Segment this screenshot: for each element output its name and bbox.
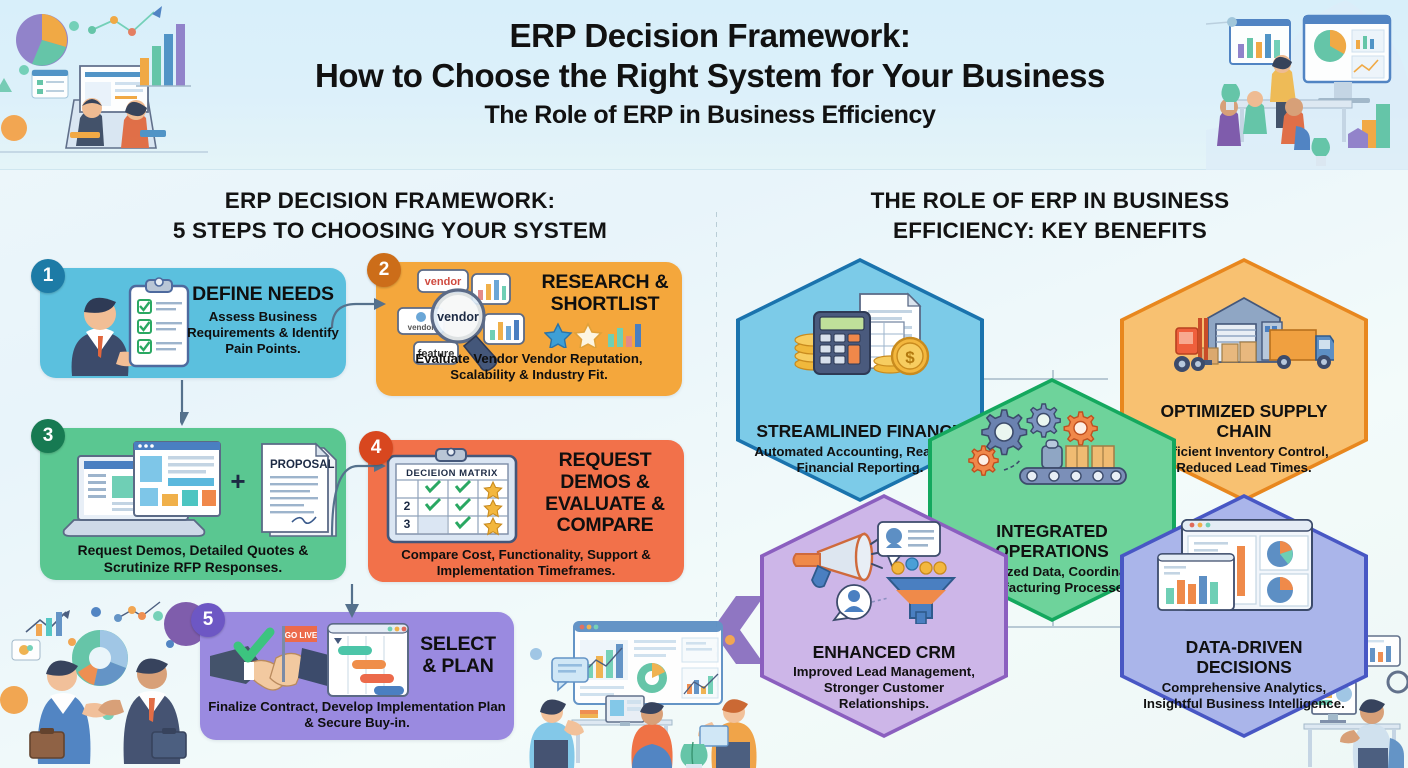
step-1-badge: 1 — [31, 259, 65, 293]
proposal-doc-label: PROPOSAL — [270, 459, 335, 471]
decision-matrix-clipboard-icon: DECIEION MATRIX 2 3 — [380, 446, 530, 546]
step-5-body: GO LIVE SELECT & PLAN Finalize Contract,… — [200, 612, 514, 740]
step-2-title-block: RESEARCH & SHORTLIST — [534, 272, 676, 316]
step-2-number: 2 — [379, 259, 390, 281]
step-2-badge: 2 — [367, 253, 401, 287]
step-1-text: DEFINE NEEDS Assess Business Requirement… — [186, 284, 340, 358]
hex-data-desc: Comprehensive Analytics, Insightful Busi… — [1138, 680, 1350, 712]
svg-text:vendor: vendor — [437, 310, 479, 324]
dashboard-charts-pie-icon — [1154, 516, 1334, 620]
hex-crm-title: ENHANCED CRM — [778, 643, 990, 663]
step-1-number: 1 — [43, 265, 54, 287]
step-4-title: REQUEST DEMOS & EVALUATE & COMPARE — [532, 450, 678, 537]
step-1-body: DEFINE NEEDS Assess Business Requirement… — [40, 268, 346, 378]
step-5-desc-block: Finalize Contract, Develop Implementatio… — [208, 696, 506, 731]
step-5-number: 5 — [203, 609, 214, 631]
step-4-number: 4 — [371, 437, 382, 459]
title-line-1: ERP Decision Framework: — [210, 16, 1210, 56]
matrix-row-2-label: 2 — [404, 499, 411, 513]
gears-conveyor-belt-icon — [968, 402, 1138, 498]
step-2-desc-block: Evaluate Vendor Vendor Reputation, Scala… — [392, 348, 666, 383]
connector-step4-to-step5 — [330, 582, 370, 622]
step-5-title-block: SELECT & PLAN — [412, 634, 504, 678]
step-5-title: SELECT & PLAN — [412, 634, 504, 678]
left-heading-line-2: 5 STEPS TO CHOOSING YOUR SYSTEM — [60, 216, 720, 246]
svg-text:vendor: vendor — [408, 323, 435, 332]
benefit-hex-enhanced-crm[interactable]: ENHANCED CRM Improved Lead Management, S… — [760, 494, 1008, 738]
hex-data-text: DATA-DRIVEN DECISIONS Comprehensive Anal… — [1138, 638, 1350, 738]
businessman-checklist-clipboard-icon — [50, 268, 200, 378]
step-2-desc: Evaluate Vendor Vendor Reputation, Scala… — [392, 351, 666, 383]
step-1-desc: Assess Business Requirements & Identify … — [186, 309, 340, 358]
step-5-badge: 5 — [191, 603, 225, 637]
header-title-block: ERP Decision Framework: How to Choose th… — [210, 16, 1210, 134]
step-1-title: DEFINE NEEDS — [186, 284, 340, 306]
step-card-select-plan[interactable]: GO LIVE SELECT & PLAN Finalize Contract,… — [200, 612, 514, 740]
step-card-define-needs[interactable]: DEFINE NEEDS Assess Business Requirement… — [40, 268, 346, 378]
warehouse-forklift-truck-icon — [1158, 284, 1334, 384]
rating-stars-and-bars-icon — [544, 322, 664, 348]
step-4-title-block: REQUEST DEMOS & EVALUATE & COMPARE — [532, 450, 678, 537]
calculator-coins-invoice-icon: $ — [788, 286, 938, 386]
footer-left-illustration — [0, 596, 200, 768]
step-5-desc: Finalize Contract, Develop Implementatio… — [208, 699, 506, 731]
step-4-desc: Compare Cost, Functionality, Support & I… — [376, 547, 676, 579]
megaphone-lead-funnel-icon — [792, 520, 972, 624]
step-4-desc-block: Compare Cost, Functionality, Support & I… — [376, 544, 676, 579]
header-subtitle: The Role of ERP in Business Efficiency — [210, 97, 1210, 135]
step-3-number: 3 — [43, 425, 54, 447]
decision-matrix-label: DECIEION MATRIX — [406, 468, 498, 479]
step-3-desc: Request Demos, Detailed Quotes & Scrutin… — [48, 543, 338, 577]
right-heading-line-2: EFFICIENCY: KEY BENEFITS — [790, 216, 1310, 246]
step-card-evaluate-compare[interactable]: DECIEION MATRIX 2 3 REQUEST DE — [368, 440, 684, 582]
header-right-illustration — [1206, 0, 1408, 170]
header-left-illustration — [0, 0, 208, 170]
connector-step1-to-step3 — [180, 378, 220, 434]
step-3-badge: 3 — [31, 419, 65, 453]
matrix-row-3-label: 3 — [404, 517, 411, 531]
left-section-heading: ERP DECISION FRAMEWORK: 5 STEPS TO CHOOS… — [60, 186, 720, 246]
step-card-research-shortlist[interactable]: vendor vendor feature vendor RESEARCH & … — [376, 262, 682, 396]
plus-symbol: + — [230, 466, 245, 496]
benefit-hex-data-driven-decisions[interactable]: DATA-DRIVEN DECISIONS Comprehensive Anal… — [1120, 494, 1368, 738]
step-card-request-demos[interactable]: + PROPOSAL Request Demos, Detailed Quote… — [40, 428, 346, 580]
svg-text:vendor: vendor — [425, 276, 462, 288]
hex-crm-desc: Improved Lead Management, Stronger Custo… — [778, 664, 990, 712]
title-line-2: How to Choose the Right System for Your … — [210, 56, 1210, 96]
step-2-body: vendor vendor feature vendor RESEARCH & … — [376, 262, 682, 396]
right-heading-line-1: THE ROLE OF ERP IN BUSINESS — [790, 186, 1310, 216]
step-3-text: Request Demos, Detailed Quotes & Scrutin… — [48, 540, 338, 577]
laptop-demo-proposal-docs-icon: + PROPOSAL — [54, 434, 344, 542]
step-4-body: DECIEION MATRIX 2 3 REQUEST DE — [368, 440, 684, 582]
header-banner: ERP Decision Framework: How to Choose th… — [0, 0, 1408, 170]
hex-data-title: DATA-DRIVEN DECISIONS — [1138, 638, 1350, 678]
left-heading-line-1: ERP DECISION FRAMEWORK: — [60, 186, 720, 216]
step-4-badge: 4 — [359, 431, 393, 465]
right-section-heading: THE ROLE OF ERP IN BUSINESS EFFICIENCY: … — [790, 186, 1310, 246]
infographic-canvas: ERP Decision Framework: How to Choose th… — [0, 0, 1408, 768]
go-live-flag-label: GO LIVE — [285, 631, 318, 640]
step-2-title: RESEARCH & SHORTLIST — [534, 272, 676, 316]
hex-crm-text: ENHANCED CRM Improved Lead Management, S… — [778, 643, 990, 738]
svg-text:$: $ — [905, 348, 915, 367]
step-3-body: + PROPOSAL Request Demos, Detailed Quote… — [40, 428, 346, 580]
footer-center-illustration — [524, 596, 764, 768]
